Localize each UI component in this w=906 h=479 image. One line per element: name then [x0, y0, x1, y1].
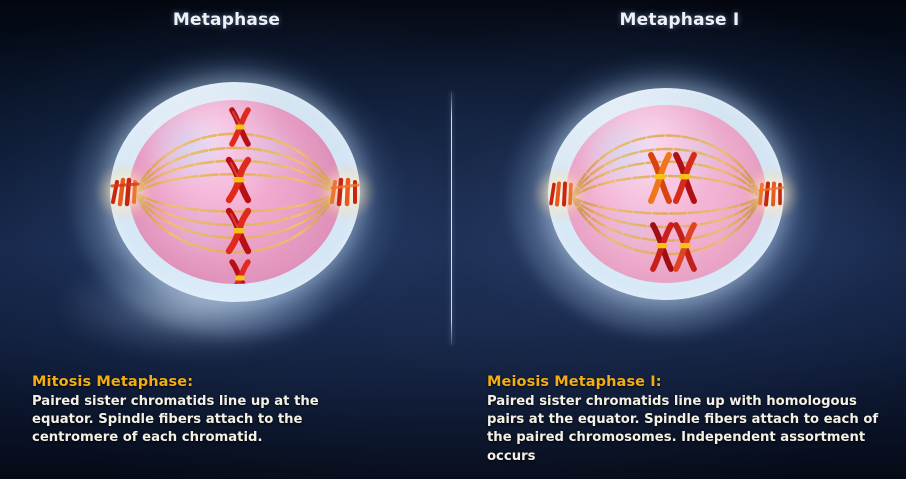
caption-mitosis: Mitosis Metaphase: Paired sister chromat…	[32, 374, 362, 448]
caption-body-meiosis: Paired sister chromatids line up with ho…	[487, 393, 892, 466]
panel-divider	[451, 92, 452, 345]
centriole-bars	[546, 181, 576, 208]
chromosome-2	[224, 158, 254, 202]
caption-heading-meiosis: Meiosis Metaphase I:	[487, 374, 892, 390]
centriole-bars	[328, 177, 362, 207]
centriole-bars	[108, 177, 142, 207]
panel-title-meiosis: Metaphase I	[453, 10, 906, 30]
caption-meiosis: Meiosis Metaphase I: Paired sister chrom…	[487, 374, 892, 466]
centriole-bars	[756, 181, 786, 208]
cytoplasm	[566, 105, 767, 283]
meiosis-metaphase-i-cell	[548, 88, 784, 300]
chromosome-1	[227, 108, 253, 146]
panel-title-mitosis: Metaphase	[0, 10, 453, 30]
centrosome-right	[328, 177, 362, 207]
homologous-pair-2	[648, 223, 698, 271]
chromosome-4	[227, 260, 253, 285]
homologous-pair-1	[646, 153, 698, 203]
cytoplasm	[129, 100, 342, 285]
mitosis-metaphase-cell	[110, 82, 360, 302]
figure-canvas: Metaphase Metaphase I	[0, 0, 906, 479]
chromosome-3	[224, 209, 254, 253]
centrosome-left	[108, 177, 142, 207]
centrosome-left	[546, 181, 576, 208]
centrosome-right	[756, 181, 786, 208]
caption-heading-mitosis: Mitosis Metaphase:	[32, 374, 362, 390]
caption-body-mitosis: Paired sister chromatids line up at the …	[32, 393, 362, 448]
